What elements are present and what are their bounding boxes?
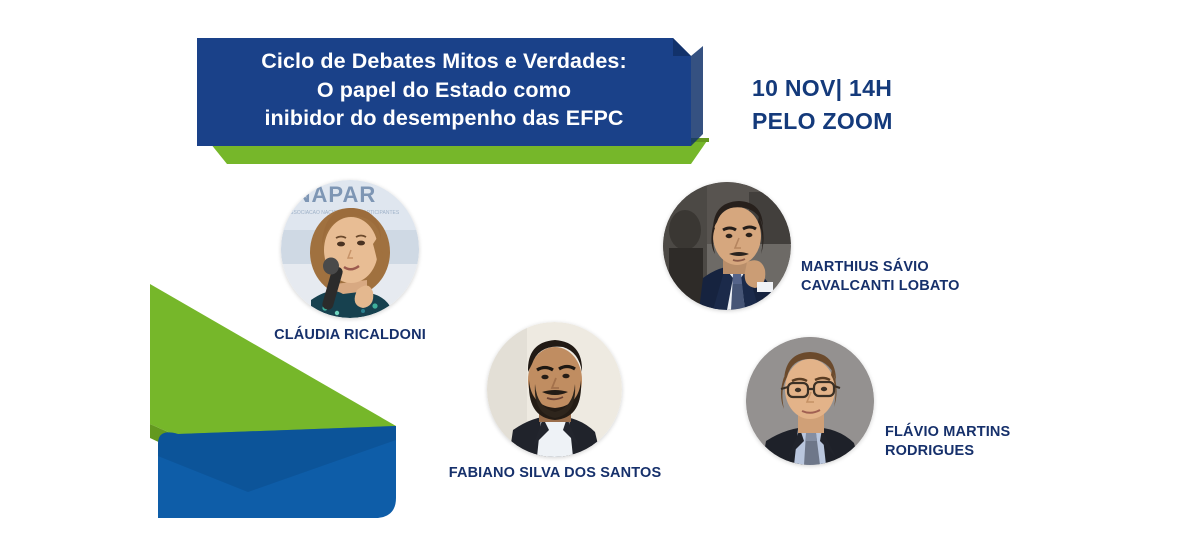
speaker-name-marthius-savio-cavalcanti-lobato: MARTHIUS SÁVIO CAVALCANTI LOBATO — [801, 258, 1001, 296]
speaker-photo-marthius-savio-cavalcanti-lobato — [663, 182, 791, 310]
svg-text:ANAPAR: ANAPAR — [281, 182, 376, 207]
speaker-name-flavio-martins-rodrigues: FLÁVIO MARTINS RODRIGUES — [885, 423, 1075, 461]
speaker-photo-fabiano-silva-dos-santos — [487, 322, 622, 457]
speaker-card-flavio-martins-rodrigues: FLÁVIO MARTINS RODRIGUES — [746, 337, 874, 465]
event-platform: PELO ZOOM — [752, 105, 893, 138]
banner-title-line-3: inibidor do desempenho das EFPC — [264, 104, 623, 133]
speaker-card-marthius-savio-cavalcanti-lobato: MARTHIUS SÁVIO CAVALCANTI LOBATO — [663, 182, 791, 310]
banner-title-line-1: Ciclo de Debates Mitos e Verdades: — [261, 47, 626, 76]
speaker-card-fabiano-silva-dos-santos: FABIANO SILVA DOS SANTOS — [487, 322, 622, 457]
event-poster: Ciclo de Debates Mitos e Verdades: O pap… — [0, 0, 1181, 537]
speaker-photo-flavio-martins-rodrigues — [746, 337, 874, 465]
banner-title-line-2: O papel do Estado como — [317, 76, 571, 105]
speaker-name-fabiano-silva-dos-santos: FABIANO SILVA DOS SANTOS — [431, 464, 679, 483]
speaker-name-claudia-ricaldoni: CLÁUDIA RICALDONI — [245, 326, 455, 345]
speaker-card-claudia-ricaldoni: ANAPAR ASSOCIACAO NACIONAL DOS PARTICIPA… — [281, 180, 419, 318]
speaker-photo-claudia-ricaldoni: ANAPAR ASSOCIACAO NACIONAL DOS PARTICIPA… — [281, 180, 419, 318]
banner-title: Ciclo de Debates Mitos e Verdades: O pap… — [197, 38, 691, 146]
event-datetime: 10 NOV| 14H PELO ZOOM — [752, 72, 893, 137]
title-banner: Ciclo de Debates Mitos e Verdades: O pap… — [197, 38, 709, 164]
event-date: 10 NOV| 14H — [752, 72, 893, 105]
